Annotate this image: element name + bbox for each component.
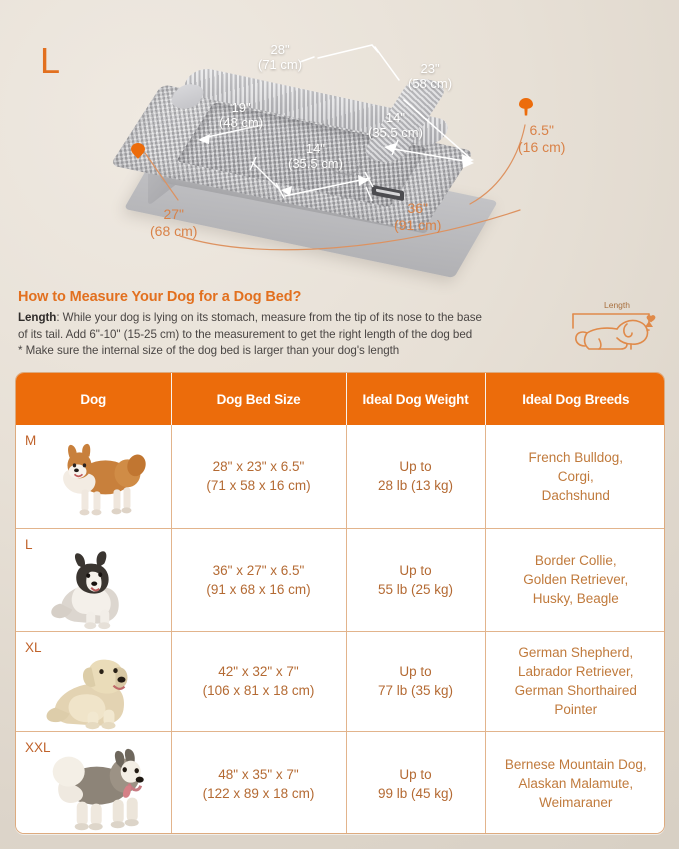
breeds-value-m: French Bulldog, Corgi, Dachshund [528,450,623,503]
dim-inner-width-metric: (48 cm) [219,115,263,130]
weight-value-l: Up to 55 lb (25 kg) [378,563,453,597]
breeds-value-xl: German Shepherd, Labrador Retriever, Ger… [515,645,637,717]
malamute-photo-icon [16,732,171,835]
cell-bed-size-xxl: 48" x 35" x 7" (122 x 89 x 18 cm) [171,731,346,834]
dim-overall-width: 36" (91 cm) [394,200,441,234]
dim-top-width-imperial: 28" [258,42,302,57]
cell-weight-m: Up to 28 lb (13 kg) [346,425,485,528]
dim-top-depth-metric: (58 cm) [408,76,452,91]
depth-marker-pin-icon [131,143,145,159]
size-chart-table-wrapper: Dog Dog Bed Size Ideal Dog Weight Ideal … [15,372,665,834]
height-marker-pin-icon [519,98,533,114]
dim-top-depth-imperial: 23" [408,61,452,76]
dim-overall-height-metric: (16 cm) [518,139,565,156]
breeds-value-l: Border Collie, Golden Retriever, Husky, … [523,553,628,606]
table-header: Dog Dog Bed Size Ideal Dog Weight Ideal … [16,373,665,425]
border-collie-photo-icon [16,529,171,631]
cell-dog-l: L [16,528,171,631]
weight-value-xxl: Up to 99 lb (45 kg) [378,767,453,801]
dim-overall-width-imperial: 36" [394,200,441,217]
dim-overall-height: 6.5" (16 cm) [518,122,565,156]
measure-length-label: Length [18,311,56,324]
table-row: M [16,425,665,528]
column-header-dog: Dog [16,373,171,425]
column-header-weight: Ideal Dog Weight [346,373,485,425]
cell-weight-xxl: Up to 99 lb (45 kg) [346,731,485,834]
bed-size-value-l: 36" x 27" x 6.5" (91 x 68 x 16 cm) [206,563,310,597]
cell-dog-xl: XL [16,631,171,731]
bed-size-value-m: 28" x 23" x 6.5" (71 x 58 x 16 cm) [206,459,310,493]
cell-weight-xl: Up to 77 lb (35 kg) [346,631,485,731]
cell-breeds-xxl: Bernese Mountain Dog, Alaskan Malamute, … [485,731,665,834]
cell-bed-size-l: 36" x 27" x 6.5" (91 x 68 x 16 cm) [171,528,346,631]
dim-inner-depth-front-metric: (35.5 cm) [288,156,343,171]
bed-size-value-xl: 42" x 32" x 7" (106 x 81 x 18 cm) [203,664,315,698]
dim-inner-depth-right-imperial: 14" [368,110,423,125]
product-hero-diagram: L [0,0,679,278]
how-to-measure-section: How to Measure Your Dog for a Dog Bed? L… [18,288,663,362]
dim-overall-depth-metric: (68 cm) [150,223,197,240]
table-row: L [16,528,665,631]
size-chart-table: Dog Dog Bed Size Ideal Dog Weight Ideal … [16,373,665,834]
dim-inner-depth-front-imperial: 14" [288,141,343,156]
size-badge: L [40,43,61,79]
dim-inner-depth-front: 14" (35.5 cm) [288,141,343,171]
dim-top-width: 28" (71 cm) [258,42,302,72]
cell-breeds-l: Border Collie, Golden Retriever, Husky, … [485,528,665,631]
dog-length-diagram-icon: Length [565,294,661,356]
corgi-photo-icon [16,425,171,528]
measure-line-1-text: : While your dog is lying on its stomach… [56,311,482,324]
cell-bed-size-xl: 42" x 32" x 7" (106 x 81 x 18 cm) [171,631,346,731]
dim-inner-depth-right-metric: (35.5 cm) [368,125,423,140]
dim-inner-width: 19" (48 cm) [219,100,263,130]
column-header-breeds: Ideal Dog Breeds [485,373,665,425]
table-header-row: Dog Dog Bed Size Ideal Dog Weight Ideal … [16,373,665,425]
labrador-photo-icon [16,632,171,731]
dim-inner-width-imperial: 19" [219,100,263,115]
dim-overall-depth: 27" (68 cm) [150,206,197,240]
dim-overall-depth-imperial: 27" [150,206,197,223]
measure-icon-length-label: Length [604,300,630,310]
cell-dog-m: M [16,425,171,528]
dim-top-depth: 23" (58 cm) [408,61,452,91]
cell-bed-size-m: 28" x 23" x 6.5" (71 x 58 x 16 cm) [171,425,346,528]
table-row: XL [16,631,665,731]
cell-weight-l: Up to 55 lb (25 kg) [346,528,485,631]
table-row: XXL [16,731,665,834]
weight-value-m: Up to 28 lb (13 kg) [378,459,453,493]
dog-cell-xxl: XXL [16,732,171,835]
dim-overall-width-metric: (91 cm) [394,217,441,234]
dog-cell-xl: XL [16,632,171,731]
dog-cell-l: L [16,529,171,631]
cell-dog-xxl: XXL [16,731,171,834]
dog-cell-m: M [16,425,171,528]
column-header-bed-size: Dog Bed Size [171,373,346,425]
table-body: M [16,425,665,834]
bed-size-value-xxl: 48" x 35" x 7" (122 x 89 x 18 cm) [203,767,315,801]
breeds-value-xxl: Bernese Mountain Dog, Alaskan Malamute, … [505,757,647,810]
dim-overall-height-imperial: 6.5" [518,122,565,139]
size-chart-page: L [0,0,679,849]
weight-value-xl: Up to 77 lb (35 kg) [378,664,453,698]
dim-top-width-metric: (71 cm) [258,57,302,72]
dim-inner-depth-right: 14" (35.5 cm) [368,110,423,140]
cell-breeds-xl: German Shepherd, Labrador Retriever, Ger… [485,631,665,731]
cell-breeds-m: French Bulldog, Corgi, Dachshund [485,425,665,528]
